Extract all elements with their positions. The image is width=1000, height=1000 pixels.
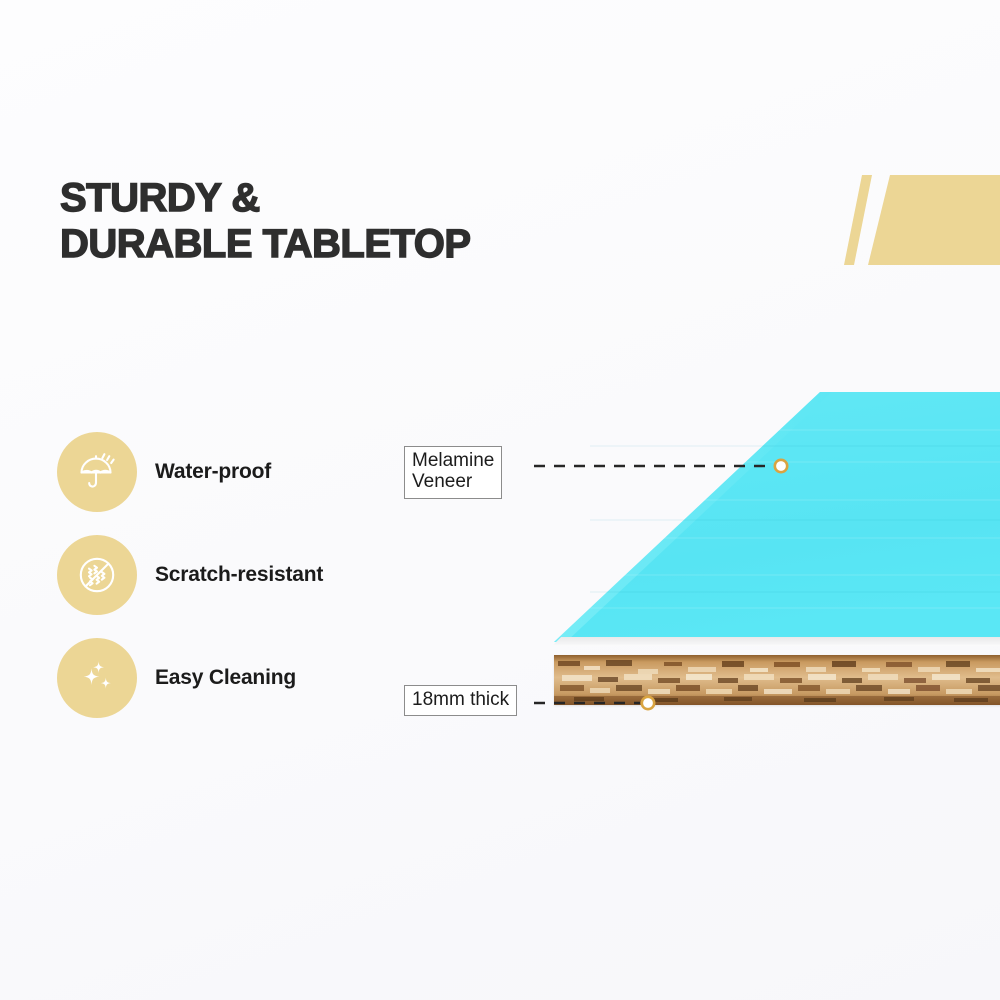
feature-list: Water-proof Scratch-resistant (57, 428, 397, 737)
callout-thickness: 18mm thick (404, 685, 517, 716)
feature-item-water-proof: Water-proof (57, 428, 397, 516)
feature-label: Water-proof (155, 460, 271, 484)
product-illustration (530, 370, 1000, 730)
feature-label: Scratch-resistant (155, 563, 323, 587)
corner-stripe-thin (844, 175, 872, 265)
page-title-line-2: DURABLE TABLETOP (60, 222, 471, 268)
feature-icon-badge (57, 432, 137, 512)
feature-item-easy-cleaning: Easy Cleaning (57, 634, 397, 722)
feature-icon-badge (57, 638, 137, 718)
corner-stripes-decoration (840, 0, 1000, 300)
no-scratch-icon (74, 552, 120, 598)
veneer-drop-shadow (552, 637, 1000, 646)
umbrella-rain-icon (74, 449, 120, 495)
particleboard-core-band (554, 655, 1000, 705)
callout-melamine-veneer: Melamine Veneer (404, 446, 502, 499)
melamine-veneer-panel (530, 370, 1000, 660)
page-title: STURDY & DURABLE TABLETOP (60, 176, 471, 267)
sparkles-icon (74, 655, 120, 701)
corner-stripe-wide (868, 175, 1000, 265)
page-title-line-1: STURDY & (60, 176, 471, 222)
slide-canvas: STURDY & DURABLE TABLETOP (0, 0, 1000, 1000)
feature-item-scratch-resistant: Scratch-resistant (57, 531, 397, 619)
feature-icon-badge (57, 535, 137, 615)
particleboard-texture (554, 655, 1000, 705)
feature-label: Easy Cleaning (155, 666, 296, 690)
